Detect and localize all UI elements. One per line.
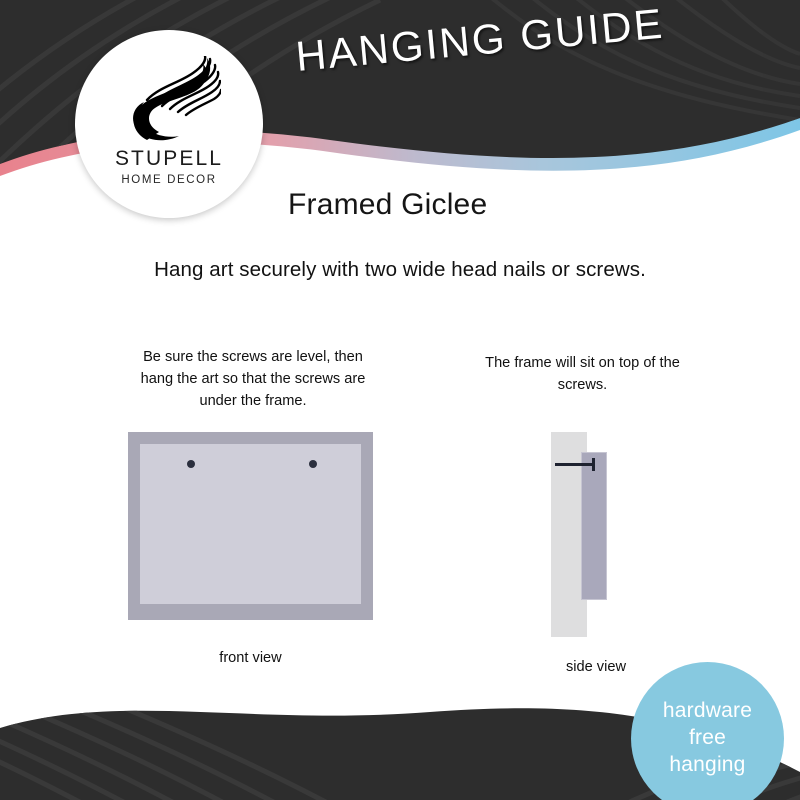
front-view-panel [140, 444, 361, 604]
front-view-label: front view [128, 650, 373, 666]
front-view-caption: Be sure the screws are level, then hang … [128, 346, 378, 413]
brand-logo-badge: STUPELL HOME DECOR [75, 30, 263, 218]
badge-line-2: free [689, 725, 726, 752]
brand-tagline: HOME DECOR [121, 175, 216, 187]
screw-head-icon [592, 458, 595, 471]
screw-dot-left-icon [187, 460, 195, 468]
side-view-frame [581, 452, 607, 600]
badge-line-1: hardware [663, 698, 752, 725]
hardware-free-badge: hardware free hanging [631, 662, 784, 800]
lead-instruction: Hang art securely with two wide head nai… [0, 258, 800, 282]
front-view-diagram [128, 432, 373, 620]
side-view-caption: The frame will sit on top of the screws. [465, 352, 700, 396]
hanging-guide-page: STUPELL HOME DECOR HANGING GUIDE Framed … [0, 0, 800, 800]
brand-name: STUPELL [115, 148, 223, 169]
screw-dot-right-icon [309, 460, 317, 468]
stupell-swirl-icon [117, 56, 221, 144]
side-view-diagram [551, 432, 641, 637]
badge-line-3: hanging [669, 752, 745, 779]
side-view-label: side view [511, 659, 681, 675]
product-type-heading: Framed Giclee [288, 188, 487, 222]
screw-shaft-icon [555, 463, 593, 466]
page-title: HANGING GUIDE [294, 0, 697, 81]
